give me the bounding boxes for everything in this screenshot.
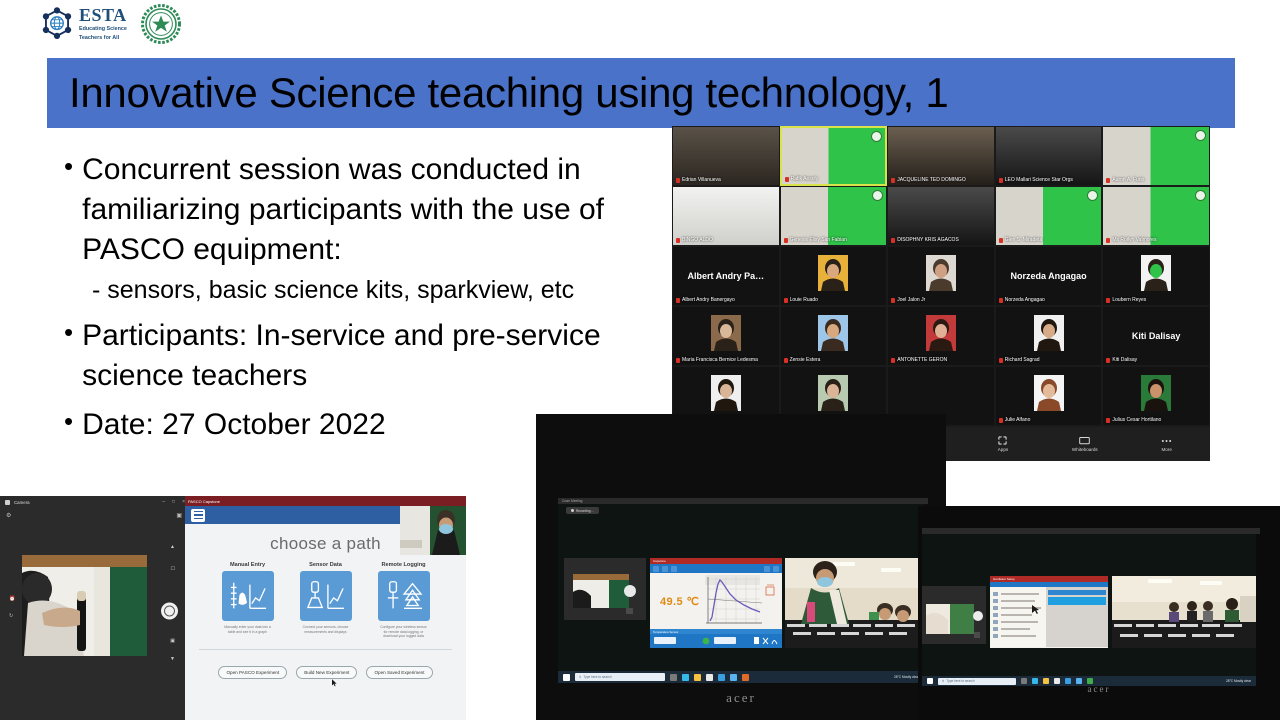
weather-widget[interactable]: 28°C Mostly clear	[1226, 679, 1251, 683]
mute-icon	[999, 358, 1003, 363]
mute-icon	[999, 298, 1003, 303]
acer-laptop-photo-right: Hardware Setup	[918, 506, 1280, 720]
record-dot-icon	[571, 509, 574, 512]
zoom-participant-tile[interactable]: Rafik Aesoly	[780, 126, 888, 186]
mute-icon	[891, 298, 895, 303]
store-icon[interactable]	[1054, 678, 1060, 684]
participant-name-label: Albert Andry Banergayo	[676, 297, 735, 303]
task-view-icon[interactable]	[1021, 678, 1027, 684]
camera-panel	[564, 558, 646, 620]
mute-icon	[1106, 358, 1110, 363]
zoom-participant-tile[interactable]: Julius Cesar Hortilano	[1102, 366, 1210, 426]
apps-icon	[997, 436, 1008, 445]
path-card-desc: Manually enter your data into a table an…	[222, 625, 274, 634]
minimize-button[interactable]: –	[162, 499, 165, 505]
scroll-down-icon[interactable]: ▼	[170, 656, 175, 662]
edge-icon[interactable]	[682, 674, 689, 681]
slide-body: • Concurrent session was conducted in fa…	[64, 150, 654, 449]
more-icon	[1161, 436, 1172, 445]
laptop-screen: Hardware Setup	[922, 528, 1256, 686]
manual-entry-icon	[222, 571, 274, 621]
virtual-background-badge-icon	[1195, 190, 1206, 201]
zoom-participant-tile[interactable]: Loubern Reyes	[1102, 246, 1210, 306]
mute-icon	[676, 358, 680, 363]
zoom-participant-tile[interactable]: Zensie Estera	[780, 306, 888, 366]
mute-icon	[784, 298, 788, 303]
recording-label: Recording…	[576, 509, 594, 513]
avatar	[818, 315, 848, 351]
gear-icon[interactable]: ⚙	[6, 512, 11, 519]
mute-icon	[1106, 178, 1110, 183]
bullet-marker: •	[64, 316, 73, 396]
path-card-title: Sensor Data	[300, 562, 352, 568]
zoom-gallery-row: Maria Francisca Bernice LedesmaZensie Es…	[672, 306, 1210, 366]
search-icon: ⚲	[579, 675, 581, 679]
path-card-manual-entry[interactable]: Manual Entry	[222, 562, 274, 639]
sensor-list[interactable]	[990, 587, 1108, 647]
virtual-background-badge-icon	[871, 131, 882, 142]
zoom-toolbar-apps-label: Apps	[998, 447, 1008, 452]
bullet-subline: - sensors, basic science kits, sparkview…	[92, 274, 654, 306]
edge-icon[interactable]	[1032, 678, 1038, 684]
capstone-graph-stage: 49.5 ℃	[650, 573, 782, 629]
avatar	[1141, 255, 1171, 291]
laptop-screen: Zoom Meeting Recording…	[558, 498, 924, 683]
zoom-participant-tile[interactable]: BINGO ALDO	[672, 186, 780, 246]
taskbar-search-placeholder: Type here to search	[946, 679, 974, 683]
build-new-experiment-button[interactable]: Build New Experiment	[296, 666, 357, 679]
participant-name-label: ANTONETTE GERON	[891, 357, 947, 363]
participant-name-label: Edrian Villanueva	[676, 177, 721, 183]
windows-camera-app-screenshot: Camera – □ × ⚙ ▣	[0, 496, 190, 720]
mute-icon	[891, 358, 895, 363]
windows-taskbar[interactable]: ⚲ Type here to search 28°C Mostly clear	[558, 671, 924, 683]
zoom-taskbar-icon[interactable]	[718, 674, 725, 681]
shutter-button[interactable]	[161, 603, 178, 620]
taskbar-search-input[interactable]: ⚲ Type here to search	[575, 673, 665, 681]
acer-laptop-photo-center: Zoom Meeting Recording…	[536, 414, 946, 720]
participant-name-label: Louie Ruado	[784, 297, 818, 303]
video-mode-icon[interactable]: ▣	[170, 638, 175, 644]
zoom-gallery-row: BINGO ALDOGenesis Elisy San FabianDISOPH…	[672, 186, 1210, 246]
open-pasco-experiment-button[interactable]: Open PASCO Experiment	[218, 666, 287, 679]
zoom-gallery-row: Albert Andry Pa…Albert Andry BanergayoLo…	[672, 246, 1210, 306]
esta-molecule-globe-icon	[40, 7, 74, 41]
avatar	[711, 375, 741, 411]
mute-icon	[1106, 418, 1110, 423]
mute-icon	[999, 418, 1003, 423]
settings-pane-icon[interactable]: ▣	[176, 512, 182, 519]
zoom-participant-tile[interactable]: Norzeda AngagaoNorzeda Angagao	[995, 246, 1103, 306]
classroom-webcam-panel	[1112, 576, 1256, 648]
path-card-title: Remote Logging	[378, 562, 430, 568]
path-card-sensor-data[interactable]: Sensor Data Connect your se	[300, 562, 352, 639]
pasco-window-title: PASCO Capstone	[188, 499, 220, 504]
path-card-remote-logging[interactable]: Remote Logging	[378, 562, 430, 639]
mute-icon	[676, 238, 680, 243]
participant-name-label: Julius Cesar Hortilano	[1106, 417, 1161, 423]
toolbar-icon[interactable]	[773, 566, 779, 572]
zoom-participant-tile[interactable]: Richard Sagrad	[995, 306, 1103, 366]
virtual-background-badge-icon	[872, 190, 883, 201]
participant-name-label: Loubern Reyes	[1106, 297, 1146, 303]
zoom-participant-tile[interactable]: Joel Jalon Jr	[887, 246, 995, 306]
mouse-cursor-icon	[332, 674, 337, 682]
mute-icon	[784, 238, 788, 243]
camera-taskbar-icon[interactable]	[742, 674, 749, 681]
temperature-graph	[650, 573, 782, 629]
zoom-toolbar-more[interactable]: More	[1161, 436, 1172, 452]
zoom-taskbar-icon[interactable]	[1065, 678, 1071, 684]
avatar	[1034, 375, 1064, 411]
switch-camera-icon[interactable]: ↻	[9, 613, 13, 619]
camera-icon	[5, 500, 10, 505]
system-tray[interactable]: 28°C Mostly clear	[1226, 679, 1251, 683]
zoom-window-titlebar	[922, 528, 1260, 534]
zoom-participant-tile[interactable]: JACQUELINE TED DOMINGO	[887, 126, 995, 186]
sensor-data-icon	[300, 571, 352, 621]
bullet-item: • Participants: In-service and pre-servi…	[64, 316, 654, 396]
file-explorer-icon[interactable]	[1043, 678, 1049, 684]
path-card-desc: Configure your wireless sensor for remot…	[378, 625, 430, 639]
capstone-taskbar-icon[interactable]	[730, 674, 737, 681]
zoom-participant-tile[interactable]: Edrian Villanueva	[672, 126, 780, 186]
participant-name-label: Richard Sagrad	[999, 357, 1040, 363]
esta-wordmark: ESTA	[79, 6, 127, 24]
participant-name-label: LEO Mallari Science Star Orgs	[999, 177, 1073, 183]
mute-icon	[999, 238, 1003, 243]
page-title: Innovative Science teaching using techno…	[47, 69, 948, 117]
zoom-toolbar-whiteboards[interactable]: Whiteboards	[1072, 436, 1098, 452]
path-card-list: Manual Entry	[185, 562, 466, 639]
participant-name-label: Norzeda Angagao	[999, 297, 1045, 303]
search-icon: ⚲	[942, 679, 944, 683]
participant-name-label: Aaron A. Furio	[1106, 177, 1144, 183]
photo-mode-icon[interactable]: ☐	[171, 566, 175, 572]
virtual-background-badge-icon	[1087, 190, 1098, 201]
avatar	[926, 315, 956, 351]
taskbar-search-placeholder: Type here to search	[583, 675, 611, 679]
esta-logo: ESTA Educating Science Teachers for All	[40, 6, 127, 42]
presentation-slide: ESTA Educating Science Teachers for All …	[0, 0, 1280, 720]
participant-name-label: Ms Roilyn Valmores	[1106, 237, 1156, 243]
zoom-participant-tile[interactable]: Glen S. Miradeta	[995, 186, 1103, 246]
maximize-button[interactable]: □	[172, 499, 175, 505]
zoom-participant-tile[interactable]: Louie Ruado	[780, 246, 888, 306]
toolbar-icon[interactable]	[662, 566, 668, 572]
zoom-participant-tile[interactable]: Aaron A. Furio	[1102, 126, 1210, 186]
zoom-toolbar-whiteboards-label: Whiteboards	[1072, 447, 1098, 452]
camera-panel	[922, 586, 986, 644]
zoom-participant-tile[interactable]: Albert Andry Pa…Albert Andry Banergayo	[672, 246, 780, 306]
capstone-window-title: Hardware Setup	[993, 577, 1015, 581]
participant-name-label: Glen S. Miradeta	[999, 237, 1043, 243]
mute-icon	[676, 178, 680, 183]
capstone-toolbar[interactable]	[650, 564, 782, 573]
camera-app-titlebar: Camera – □ ×	[0, 496, 190, 508]
participant-name-label: Genesis Elisy San Fabian	[784, 237, 847, 243]
path-card-desc: Connect your sensors, choose measurement…	[300, 625, 352, 634]
avatar	[1034, 315, 1064, 351]
mute-icon	[999, 178, 1003, 183]
scroll-up-icon[interactable]: ▲	[170, 544, 175, 550]
remote-logging-icon	[378, 571, 430, 621]
store-icon[interactable]	[706, 674, 713, 681]
mute-icon	[1106, 238, 1110, 243]
zoom-toolbar-apps[interactable]: Apps	[997, 436, 1008, 452]
laptop-brand-logo: acer	[1088, 684, 1111, 694]
participant-name-label: Zensie Estera	[784, 357, 821, 363]
pasco-capstone-choose-path-screenshot: PASCO Capstone choose a path Manual Entr…	[185, 496, 466, 720]
file-explorer-icon[interactable]	[694, 674, 701, 681]
zoom-window-title: Zoom Meeting	[562, 499, 582, 503]
bullet-marker: •	[64, 150, 73, 270]
pasco-capstone-window: Capstone 49.5 ℃	[650, 558, 782, 648]
bullet-text: Participants: In-service and pre-service…	[82, 316, 654, 396]
camera-preview-photo	[22, 555, 147, 656]
zoom-window-titlebar: Zoom Meeting	[558, 498, 928, 504]
task-view-icon[interactable]	[670, 674, 677, 681]
toolbar-icon[interactable]	[653, 566, 659, 572]
participant-name-label: JACQUELINE TED DOMINGO	[891, 177, 966, 183]
pasco-hardware-setup-window: Hardware Setup	[990, 576, 1108, 648]
zoom-participant-tile[interactable]: Maria Francisca Bernice Ledesma	[672, 306, 780, 366]
start-button-icon[interactable]	[927, 678, 933, 684]
zoom-participant-tile[interactable]: Julie Alfano	[995, 366, 1103, 426]
mute-icon	[676, 298, 680, 303]
mute-icon	[891, 238, 895, 243]
zoom-participant-tile[interactable]: Kiti DalisayKiti Dalisay	[1102, 306, 1210, 366]
recording-indicator: Recording…	[566, 507, 599, 514]
mute-icon	[785, 177, 789, 182]
camera-app-stage: ⚙ ▣ ▲	[0, 508, 190, 714]
zoom-participant-tile[interactable]: Genesis Elisy San Fabian	[780, 186, 888, 246]
avatar	[1141, 375, 1171, 411]
university-seal-icon	[141, 4, 181, 44]
pasco-action-buttons: Open PASCO Experiment Build New Experime…	[185, 666, 466, 679]
avatar	[926, 255, 956, 291]
title-banner: Innovative Science teaching using techno…	[47, 58, 1235, 128]
zoom-gallery-row: Edrian VillanuevaRafik AesolyJACQUELINE …	[672, 126, 1210, 186]
zoom-participant-tile[interactable]: ANTONETTE GERON	[887, 306, 995, 366]
logo-row: ESTA Educating Science Teachers for All	[40, 2, 181, 46]
capstone-bottom-bar[interactable]	[650, 634, 782, 648]
whiteboard-icon	[1079, 436, 1090, 445]
participant-name-label: Rafik Aesoly	[785, 176, 819, 182]
participant-name-label: Maria Francisca Bernice Ledesma	[676, 357, 758, 363]
mute-icon	[1106, 298, 1110, 303]
participant-name-label: BINGO ALDO	[676, 237, 713, 243]
laptop-brand-logo: acer	[726, 690, 756, 706]
path-card-title: Manual Entry	[222, 562, 274, 568]
bullet-text: Concurrent session was conducted in fami…	[82, 150, 654, 270]
presenter-webcam-panel	[785, 558, 920, 648]
participant-name-label: Joel Jalon Jr	[891, 297, 925, 303]
zoom-toolbar-more-label: More	[1161, 447, 1171, 452]
open-saved-experiment-button[interactable]: Open Saved Experiment	[366, 666, 432, 679]
participant-name-label: DISOPHNY KRIS AGACOS	[891, 237, 959, 243]
camera-app-title: Camera	[14, 500, 30, 505]
toolbar-icon[interactable]	[764, 566, 770, 572]
divider	[199, 649, 452, 650]
zoom-participant-tile[interactable]: Ms Roilyn Valmores	[1102, 186, 1210, 246]
zoom-participant-tile[interactable]: LEO Mallari Science Star Orgs	[995, 126, 1103, 186]
pasco-titlebar: PASCO Capstone	[185, 496, 466, 506]
hamburger-menu-icon[interactable]	[191, 509, 205, 522]
mute-icon	[891, 178, 895, 183]
presenter-webcam-thumbnail	[400, 506, 466, 555]
system-tray[interactable]: 28°C Mostly clear	[894, 675, 919, 679]
bullet-item: • Concurrent session was conducted in fa…	[64, 150, 654, 270]
bullet-marker: •	[64, 405, 73, 445]
virtual-background-badge-icon	[1195, 130, 1206, 141]
participant-name-label: Julie Alfano	[999, 417, 1031, 423]
taskbar-search-input[interactable]: ⚲ Type here to search	[938, 678, 1016, 685]
start-button-icon[interactable]	[563, 674, 570, 681]
avatar	[711, 315, 741, 351]
weather-widget[interactable]: 28°C Mostly clear	[894, 675, 919, 679]
zoom-participant-tile[interactable]: DISOPHNY KRIS AGACOS	[887, 186, 995, 246]
avatar	[818, 255, 848, 291]
mute-icon	[784, 358, 788, 363]
zoom-gallery-screenshot: Edrian VillanuevaRafik AesolyJACQUELINE …	[672, 126, 1210, 461]
capstone-window-title: Capstone	[653, 559, 666, 563]
avatar	[818, 375, 848, 411]
timer-icon[interactable]: ⏰	[9, 596, 15, 602]
esta-tagline-line1: Educating Science	[79, 26, 127, 33]
participant-name-label: Kiti Dalisay	[1106, 357, 1137, 363]
toolbar-icon[interactable]	[671, 566, 677, 572]
esta-tagline-line2: Teachers for All	[79, 35, 127, 42]
capstone-taskbar-icon[interactable]	[1076, 678, 1082, 684]
